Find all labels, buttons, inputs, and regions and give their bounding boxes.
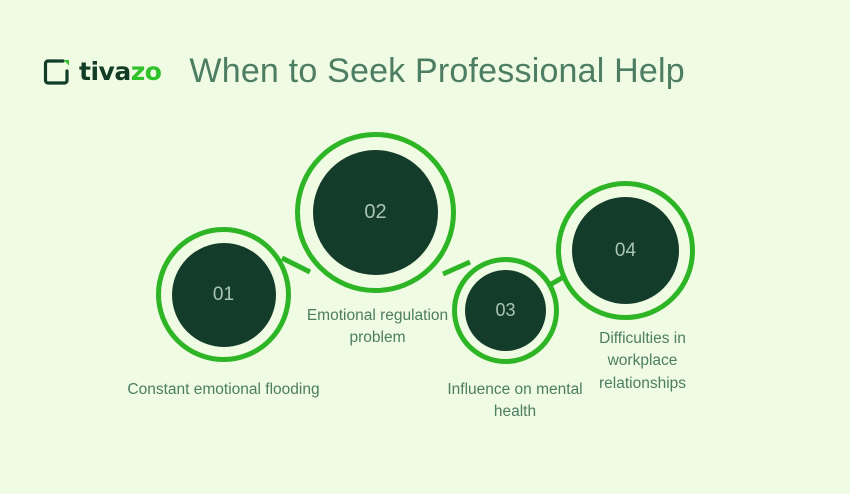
node-caption-04: Difficulties in workplace relationships: [575, 328, 710, 395]
node-number-04: 04: [615, 240, 636, 262]
diagram-node-02[interactable]: 02: [295, 132, 456, 293]
node-core-01: 01: [172, 243, 276, 347]
node-number-01: 01: [213, 284, 234, 306]
node-core-04: 04: [572, 197, 679, 304]
node-caption-03: Influence on mental health: [440, 379, 590, 424]
diagram-node-04[interactable]: 04: [556, 181, 695, 320]
node-number-02: 02: [364, 201, 386, 224]
node-caption-02: Emotional regulation problem: [285, 305, 470, 350]
node-caption-01: Constant emotional flooding: [121, 379, 326, 401]
node-number-03: 03: [495, 300, 515, 321]
slide-canvas: tivazo When to Seek Professional Help 01…: [0, 0, 850, 494]
node-core-03: 03: [465, 270, 546, 351]
connector-2-3: [443, 262, 470, 274]
diagram-node-01[interactable]: 01: [156, 227, 291, 362]
node-core-02: 02: [313, 150, 438, 275]
